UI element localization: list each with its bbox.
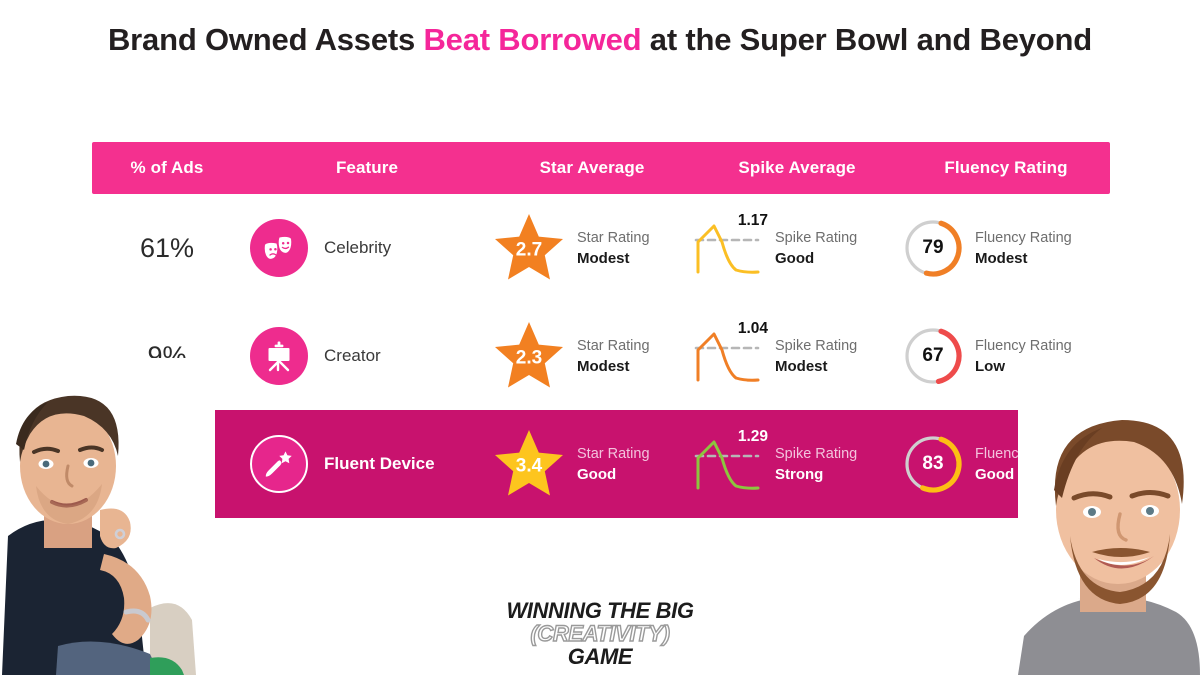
star-average-value: 2.3: [492, 348, 566, 370]
feature-label: Celebrity: [324, 238, 391, 258]
fluency-rating-value: 79: [902, 217, 964, 279]
fluency-gauge-icon: 67: [902, 325, 964, 387]
slide-root: Brand Owned Assets Beat Borrowed at the …: [0, 0, 1200, 675]
spike-rating-label: Strong: [775, 466, 823, 483]
star-rating-label: Modest: [577, 250, 630, 267]
footer-logo: WINNING THE BIG (CREATIVITY) GAME: [0, 600, 1200, 669]
title-text-after: at the Super Bowl and Beyond: [641, 22, 1092, 57]
star-rating-caption: Star Rating: [577, 446, 650, 462]
table-row: 16%Fluent Device3.4Star RatingGood1.29Sp…: [92, 410, 1110, 518]
fluency-rating-label: Good: [975, 466, 1014, 483]
theater-masks-icon: [250, 219, 308, 277]
spike-curve-icon: 1.17: [692, 216, 764, 280]
table-body: 61%Celebrity2.7Star RatingModest1.17Spik…: [92, 194, 1110, 518]
star-rating-icon: 2.7: [492, 212, 566, 284]
fluency-rating-value: 83: [902, 433, 964, 495]
column-header-spike-average: Spike Average: [692, 158, 902, 178]
spike-rating-caption: Spike Rating: [775, 338, 857, 354]
easel-icon: [250, 327, 308, 385]
star-rating-label: Good: [577, 466, 616, 483]
title-highlight: Beat Borrowed: [423, 22, 641, 57]
spike-rating-label: Modest: [775, 358, 828, 375]
spike-rating-caption: Spike Rating: [775, 230, 857, 246]
shooting-star-icon: [250, 435, 308, 493]
star-rating-icon: 3.4: [492, 428, 566, 500]
table-header-row: % of Ads Feature Star Average Spike Aver…: [92, 142, 1110, 194]
feature-label: Fluent Device: [324, 454, 435, 474]
fluency-rating-caption: Fluency Rating: [975, 230, 1072, 246]
column-header-pct-of-ads: % of Ads: [92, 158, 242, 178]
spike-curve-icon: 1.29: [692, 432, 764, 496]
spike-average-value: 1.29: [738, 428, 768, 446]
fluency-rating-label: Modest: [975, 250, 1028, 267]
table-row: 9%Creator2.3Star RatingModest1.04Spike R…: [92, 302, 1110, 410]
table-row: 61%Celebrity2.7Star RatingModest1.17Spik…: [92, 194, 1110, 302]
title-text-before: Brand Owned Assets: [108, 22, 423, 57]
fluency-rating-caption: Fluency Rating: [975, 338, 1072, 354]
spike-curve-icon: 1.04: [692, 324, 764, 388]
column-header-fluency-rating: Fluency Rating: [902, 158, 1110, 178]
star-rating-label: Modest: [577, 358, 630, 375]
star-rating-caption: Star Rating: [577, 230, 650, 246]
pct-of-ads-value: 61%: [140, 233, 194, 263]
spike-average-value: 1.04: [738, 320, 768, 338]
star-rating-caption: Star Rating: [577, 338, 650, 354]
spike-rating-caption: Spike Rating: [775, 446, 857, 462]
column-header-star-average: Star Average: [492, 158, 692, 178]
fluency-gauge-icon: 79: [902, 217, 964, 279]
metrics-table: % of Ads Feature Star Average Spike Aver…: [92, 142, 1110, 518]
star-rating-icon: 2.3: [492, 320, 566, 392]
column-header-feature: Feature: [242, 158, 492, 178]
footer-logo-line1: WINNING THE BIG: [0, 600, 1200, 623]
spike-average-value: 1.17: [738, 212, 768, 230]
star-average-value: 2.7: [492, 240, 566, 262]
spike-rating-label: Good: [775, 250, 814, 267]
page-title: Brand Owned Assets Beat Borrowed at the …: [0, 22, 1200, 58]
footer-logo-line3: GAME: [0, 646, 1200, 669]
star-average-value: 3.4: [492, 456, 566, 478]
fluency-gauge-icon: 83: [902, 433, 964, 495]
fluency-rating-label: Low: [975, 358, 1005, 375]
feature-label: Creator: [324, 346, 381, 366]
footer-logo-line2: (CREATIVITY): [0, 623, 1200, 646]
fluency-rating-value: 67: [902, 325, 964, 387]
